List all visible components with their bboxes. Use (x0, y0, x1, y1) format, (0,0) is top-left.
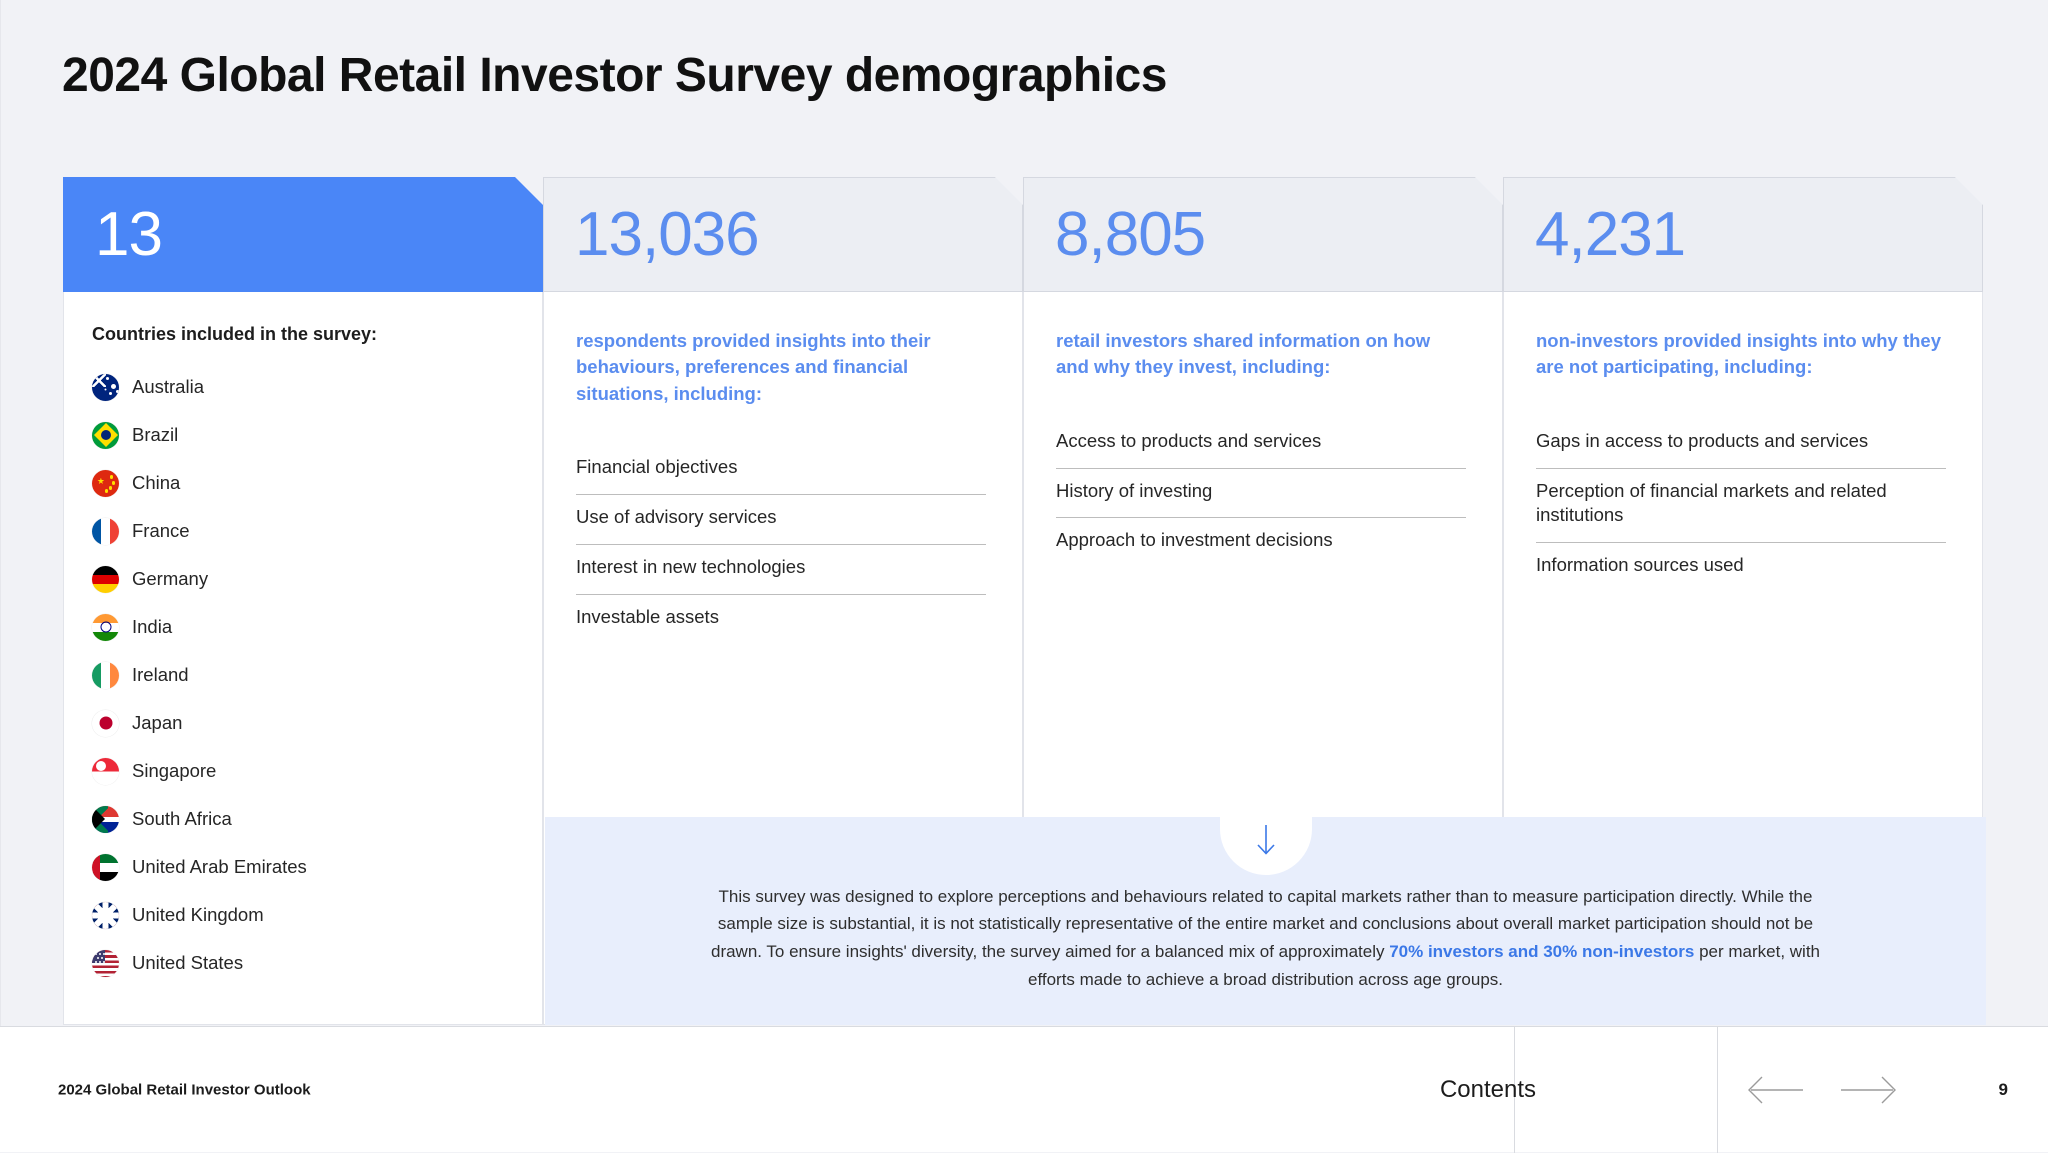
arrow-left-icon (1745, 1073, 1807, 1107)
callout-notch (1220, 817, 1312, 875)
country-row: Germany (92, 555, 520, 603)
flag-united-arab-emirates-icon (92, 854, 119, 881)
countries-heading: Countries included in the survey: (92, 324, 520, 345)
stat-card-body-0: Countries included in the survey:Austral… (63, 292, 543, 1025)
country-name: Japan (132, 712, 182, 734)
country-row: India (92, 603, 520, 651)
country-name: India (132, 616, 172, 638)
country-name: United Kingdom (132, 904, 264, 926)
flag-south-africa-icon (92, 806, 119, 833)
callout-text: This survey was designed to explore perc… (701, 883, 1831, 993)
country-name: Germany (132, 568, 208, 590)
country-name: Ireland (132, 664, 189, 686)
survey-methodology-callout: This survey was designed to explore perc… (545, 817, 1986, 1025)
stat-card-header-3: 4,231 (1503, 177, 1983, 292)
footer-document-name: 2024 Global Retail Investor Outlook (58, 1081, 311, 1098)
country-name: Brazil (132, 424, 178, 446)
flag-ireland-icon (92, 662, 119, 689)
stat-card-item-list: Access to products and servicesHistory o… (1056, 429, 1466, 568)
page-number: 9 (1999, 1080, 2008, 1100)
country-row: United States (92, 939, 520, 987)
list-item: Investable assets (576, 594, 986, 644)
list-item: Access to products and services (1056, 429, 1466, 468)
page-title: 2024 Global Retail Investor Survey demog… (62, 48, 1167, 103)
stat-card-header-2: 8,805 (1023, 177, 1503, 292)
next-page-button[interactable] (1837, 1073, 1899, 1107)
country-name: United States (132, 952, 243, 974)
country-row: Singapore (92, 747, 520, 795)
country-name: Singapore (132, 760, 216, 782)
flag-china-icon (92, 470, 119, 497)
flag-australia-icon (92, 374, 119, 401)
stat-number: 13,036 (575, 204, 759, 266)
stat-card-item-list: Financial objectivesUse of advisory serv… (576, 455, 986, 644)
country-row: Ireland (92, 651, 520, 699)
sheet-left-edge (0, 0, 1, 1026)
list-item: Information sources used (1536, 542, 1946, 592)
footer-nav (1745, 1073, 1899, 1107)
stat-card-item-list: Gaps in access to products and servicesP… (1536, 429, 1946, 593)
country-row: Brazil (92, 411, 520, 459)
callout-highlight: 70% investors and 30% non-investors (1389, 942, 1694, 961)
country-row: China (92, 459, 520, 507)
stat-card-lead: retail investors shared information on h… (1056, 328, 1466, 381)
country-row: Australia (92, 363, 520, 411)
stat-card-0: 13Countries included in the survey:Austr… (63, 177, 543, 1025)
flag-united-states-icon (92, 950, 119, 977)
country-name: France (132, 520, 190, 542)
list-item: Approach to investment decisions (1056, 517, 1466, 567)
stat-number: 13 (95, 204, 162, 266)
list-item: Use of advisory services (576, 494, 986, 544)
arrow-down-icon (1253, 823, 1279, 857)
list-item: History of investing (1056, 468, 1466, 518)
country-row: France (92, 507, 520, 555)
flag-japan-icon (92, 710, 119, 737)
list-item: Interest in new technologies (576, 544, 986, 594)
stat-number: 8,805 (1055, 204, 1205, 266)
contents-link[interactable]: Contents (1440, 1076, 1536, 1104)
country-row: United Arab Emirates (92, 843, 520, 891)
list-item: Perception of financial markets and rela… (1536, 468, 1946, 543)
flag-india-icon (92, 614, 119, 641)
stat-card-header-1: 13,036 (543, 177, 1023, 292)
country-name: Australia (132, 376, 204, 398)
arrow-right-icon (1837, 1073, 1899, 1107)
flag-france-icon (92, 518, 119, 545)
stat-card-header-0: 13 (63, 177, 543, 292)
footer-divider-2 (1717, 1027, 1718, 1153)
prev-page-button[interactable] (1745, 1073, 1807, 1107)
country-row: South Africa (92, 795, 520, 843)
flag-germany-icon (92, 566, 119, 593)
country-row: United Kingdom (92, 891, 520, 939)
stat-number: 4,231 (1535, 204, 1685, 266)
page-footer: 2024 Global Retail Investor Outlook Cont… (0, 1026, 2048, 1152)
stat-card-lead: non-investors provided insights into why… (1536, 328, 1946, 381)
stat-card-lead: respondents provided insights into their… (576, 328, 986, 407)
flag-singapore-icon (92, 758, 119, 785)
country-name: South Africa (132, 808, 232, 830)
country-name: China (132, 472, 180, 494)
flag-united-kingdom-icon (92, 902, 119, 929)
country-name: United Arab Emirates (132, 856, 307, 878)
list-item: Financial objectives (576, 455, 986, 494)
flag-brazil-icon (92, 422, 119, 449)
country-row: Japan (92, 699, 520, 747)
list-item: Gaps in access to products and services (1536, 429, 1946, 468)
